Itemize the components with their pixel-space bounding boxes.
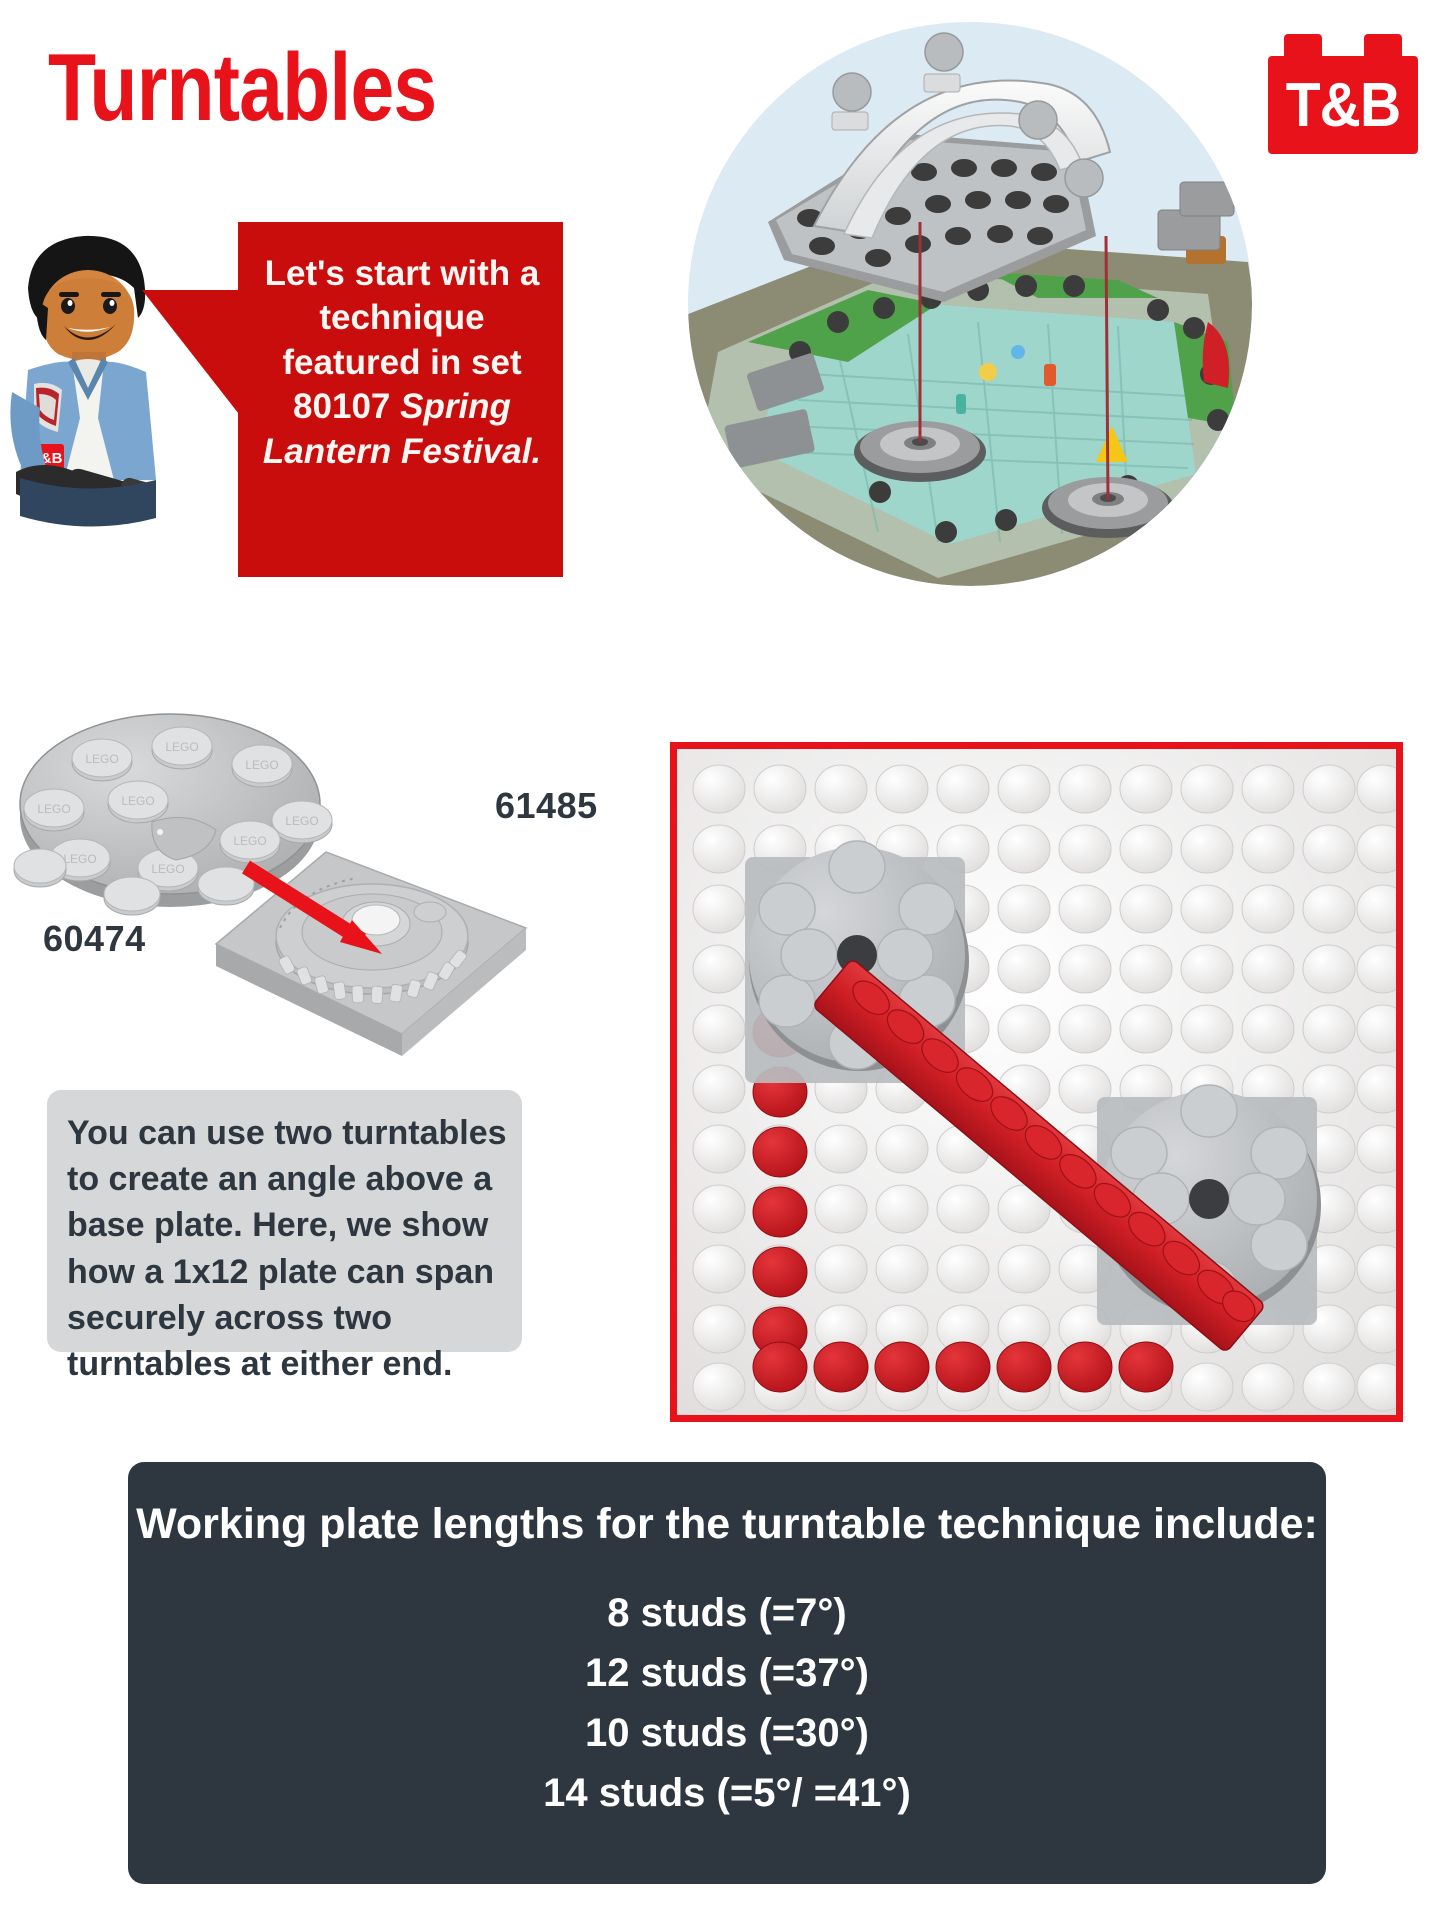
speech-bubble-tail	[142, 290, 242, 418]
parts-diagram-svg: LEGO LEGO LEGO LEGO LEGO LEGO LEGO LEGO …	[10, 712, 660, 1062]
bubble-line-2: technique	[258, 296, 546, 340]
set-photo-svg	[688, 22, 1252, 586]
set-name-part1: Spring	[400, 387, 511, 426]
parts-diagram: LEGO LEGO LEGO LEGO LEGO LEGO LEGO LEGO …	[10, 712, 660, 1062]
svg-text:LEGO: LEGO	[233, 834, 266, 848]
list-item: 12 studs (=37°)	[128, 1643, 1326, 1703]
svg-text:LEGO: LEGO	[121, 794, 154, 808]
set-name-part2: Lantern Festival.	[258, 430, 546, 474]
svg-text:LEGO: LEGO	[245, 758, 278, 772]
list-item: 14 studs (=5°/ =41°)	[128, 1763, 1326, 1823]
svg-text:LEGO: LEGO	[151, 862, 184, 876]
set-photo-circle	[688, 22, 1252, 586]
infographic-page: Turntables T&B	[0, 0, 1440, 1920]
bubble-line-1: Let's start with a	[258, 252, 546, 296]
lengths-panel-list: 8 studs (=7°) 12 studs (=37°) 10 studs (…	[128, 1583, 1326, 1823]
svg-text:LEGO: LEGO	[285, 814, 318, 828]
set-number: 80107	[293, 387, 400, 426]
bubble-line-3: featured in set	[258, 341, 546, 385]
lengths-panel-heading: Working plate lengths for the turntable …	[128, 1500, 1326, 1549]
technique-photo-svg	[677, 749, 1396, 1415]
page-title: Turntables	[48, 38, 436, 139]
logo-text: T&B	[1274, 56, 1412, 154]
svg-text:LEGO: LEGO	[85, 752, 118, 766]
svg-text:LEGO: LEGO	[165, 740, 198, 754]
part-label-61485: 61485	[495, 785, 598, 827]
bubble-line-4: 80107 Spring	[258, 385, 546, 429]
speech-bubble-text: Let's start with a technique featured in…	[258, 252, 546, 474]
list-item: 8 studs (=7°)	[128, 1583, 1326, 1643]
tb-logo: T&B	[1268, 34, 1418, 154]
info-box-text: You can use two turntables to create an …	[67, 1110, 507, 1387]
svg-text:LEGO: LEGO	[37, 802, 70, 816]
technique-photo-panel	[670, 742, 1403, 1422]
list-item: 10 studs (=30°)	[128, 1703, 1326, 1763]
part-label-60474: 60474	[43, 918, 146, 960]
svg-text:LEGO: LEGO	[63, 852, 96, 866]
